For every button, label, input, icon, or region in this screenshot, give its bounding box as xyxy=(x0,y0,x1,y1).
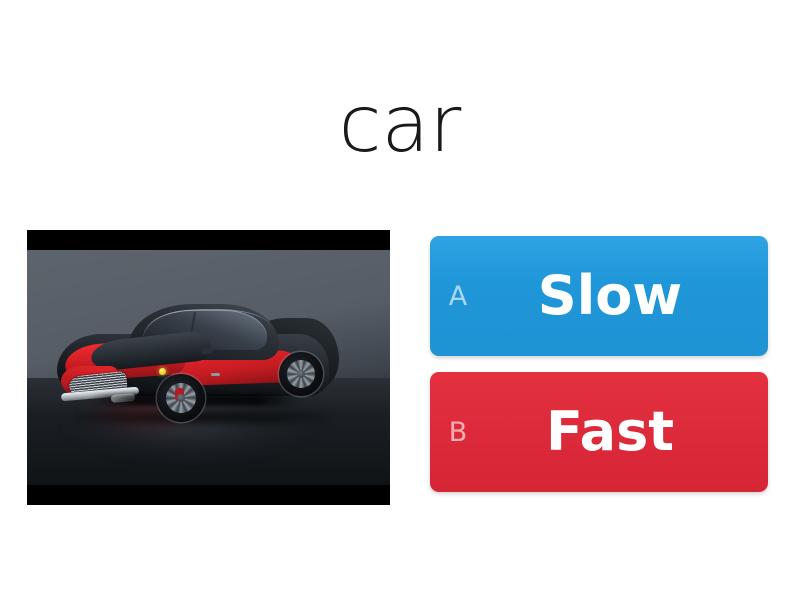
answer-label-a: Slow xyxy=(486,268,768,325)
question-image-panel xyxy=(27,230,390,505)
answer-option-b[interactable]: B Fast xyxy=(430,372,768,492)
car-front-wheel xyxy=(157,374,205,422)
answer-options: A Slow B Fast xyxy=(430,236,768,492)
car-rear-wheel xyxy=(279,352,323,396)
car-illustration xyxy=(51,290,341,420)
car-front-hub xyxy=(177,394,185,402)
car-door-handle xyxy=(211,373,220,376)
car-photo xyxy=(27,250,390,485)
car-rear-hub xyxy=(297,370,305,378)
answer-letter-b: B xyxy=(430,419,486,446)
answer-letter-a: A xyxy=(430,283,486,310)
answer-option-a[interactable]: A Slow xyxy=(430,236,768,356)
car-side-marker-light xyxy=(159,368,166,375)
answer-label-b: Fast xyxy=(486,404,768,461)
page-title: car xyxy=(0,86,800,164)
